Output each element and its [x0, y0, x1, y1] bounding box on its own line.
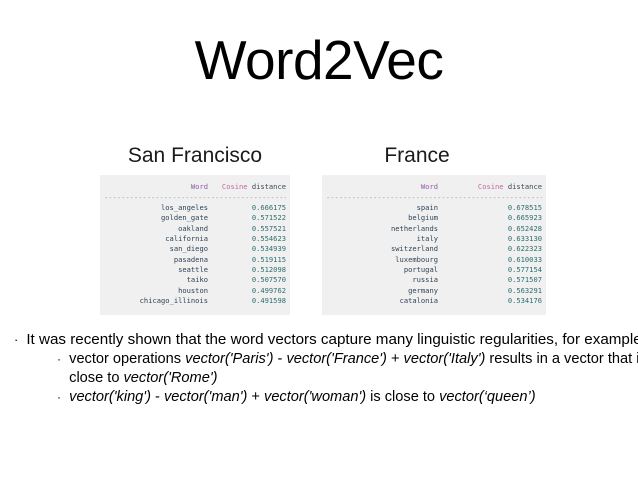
table-row: seattle 0.512098	[104, 265, 286, 275]
cell-distance: 0.563291	[438, 286, 542, 296]
cell-distance: 0.610033	[438, 255, 542, 265]
column-header-word: Word	[104, 182, 208, 192]
cell-word: san_diego	[104, 244, 208, 254]
cell-word: luxembourg	[326, 255, 438, 265]
bullet-text: vector operations vector('Paris') - vect…	[69, 350, 638, 389]
cell-distance: 0.571522	[208, 213, 286, 223]
cell-word: catalonia	[326, 296, 438, 306]
table-body-sf: los_angeles 0.666175 golden_gate 0.57152…	[104, 203, 286, 306]
cell-word: los_angeles	[104, 203, 208, 213]
bullet-marker-icon: ·	[57, 388, 61, 407]
cell-word: russia	[326, 275, 438, 285]
table-row: germany 0.563291	[326, 286, 542, 296]
table-body-france: spain 0.678515 belgium 0.665923 netherla…	[326, 203, 542, 306]
cell-word: portugal	[326, 265, 438, 275]
similarity-table-san-francisco: Word Cosine distance -------------------…	[100, 175, 290, 315]
cell-word: netherlands	[326, 224, 438, 234]
table-row: russia 0.571507	[326, 275, 542, 285]
cell-distance: 0.678515	[438, 203, 542, 213]
column-header-cosine-distance: Cosine distance	[438, 182, 542, 192]
bullet-item: · vector('king') - vector('man') + vecto…	[57, 388, 638, 407]
table-row: portugal 0.577154	[326, 265, 542, 275]
table-row: houston 0.499762	[104, 286, 286, 296]
cell-distance: 0.491598	[208, 296, 286, 306]
cell-distance: 0.665923	[438, 213, 542, 223]
page-title: Word2Vec	[0, 33, 638, 88]
column-header-cosine: Cosine	[478, 182, 508, 191]
table-header-row: Word Cosine distance	[326, 182, 542, 192]
cell-distance: 0.534939	[208, 244, 286, 254]
cell-word: pasadena	[104, 255, 208, 265]
table-row: spain 0.678515	[326, 203, 542, 213]
bullet-item: · It was recently shown that the word ve…	[14, 330, 638, 350]
similarity-table-france: Word Cosine distance -------------------…	[322, 175, 546, 315]
cell-word: chicago_illinois	[104, 296, 208, 306]
table-row: catalonia 0.534176	[326, 296, 542, 306]
cell-distance: 0.633130	[438, 234, 542, 244]
cell-distance: 0.534176	[438, 296, 542, 306]
slide: Word2Vec San Francisco Word Cosine dista…	[0, 0, 638, 479]
column-header-cosine: Cosine	[222, 182, 252, 191]
table-row: pasadena 0.519115	[104, 255, 286, 265]
table-header-row: Word Cosine distance	[104, 182, 286, 192]
cell-word: seattle	[104, 265, 208, 275]
table-row: italy 0.633130	[326, 234, 542, 244]
cell-word: taiko	[104, 275, 208, 285]
column-header-word: Word	[326, 182, 438, 192]
cell-distance: 0.571507	[438, 275, 542, 285]
table-row: los_angeles 0.666175	[104, 203, 286, 213]
slide-body: · It was recently shown that the word ve…	[14, 330, 638, 408]
table-row: california 0.554623	[104, 234, 286, 244]
table-row: switzerland 0.622323	[326, 244, 542, 254]
cell-distance: 0.519115	[208, 255, 286, 265]
column-header-distance: distance	[252, 182, 286, 191]
cell-distance: 0.507570	[208, 275, 286, 285]
table-separator: ----------------------------------------…	[326, 193, 542, 203]
cell-distance: 0.652428	[438, 224, 542, 234]
cell-word: houston	[104, 286, 208, 296]
table-row: taiko 0.507570	[104, 275, 286, 285]
table-row: chicago_illinois 0.491598	[104, 296, 286, 306]
bullet-marker-icon: ·	[57, 350, 61, 369]
cell-distance: 0.554623	[208, 234, 286, 244]
cell-word: italy	[326, 234, 438, 244]
cell-word: spain	[326, 203, 438, 213]
table-row: netherlands 0.652428	[326, 224, 542, 234]
cell-word: switzerland	[326, 244, 438, 254]
table-separator: ----------------------------------------…	[104, 193, 286, 203]
cell-word: oakland	[104, 224, 208, 234]
bullet-text: vector('king') - vector('man') + vector(…	[69, 388, 638, 407]
bullet-marker-icon: ·	[14, 330, 18, 350]
cell-word: germany	[326, 286, 438, 296]
table-row: golden_gate 0.571522	[104, 213, 286, 223]
cell-distance: 0.577154	[438, 265, 542, 275]
column-header-cosine-distance: Cosine distance	[208, 182, 286, 192]
table-row: san_diego 0.534939	[104, 244, 286, 254]
table-row: belgium 0.665923	[326, 213, 542, 223]
example-heading: San Francisco	[100, 143, 290, 169]
cell-distance: 0.622323	[438, 244, 542, 254]
column-header-distance: distance	[508, 182, 542, 191]
cell-distance: 0.557521	[208, 224, 286, 234]
cell-distance: 0.512098	[208, 265, 286, 275]
table-row: luxembourg 0.610033	[326, 255, 542, 265]
cell-word: belgium	[326, 213, 438, 223]
example-heading: France	[322, 143, 546, 169]
cell-distance: 0.499762	[208, 286, 286, 296]
table-row: oakland 0.557521	[104, 224, 286, 234]
cell-word: california	[104, 234, 208, 244]
example-san-francisco: San Francisco Word Cosine distance -----…	[100, 143, 290, 315]
bullet-item: · vector operations vector('Paris') - ve…	[57, 350, 638, 389]
cell-word: golden_gate	[104, 213, 208, 223]
cell-distance: 0.666175	[208, 203, 286, 213]
example-france: France Word Cosine distance ------------…	[322, 143, 546, 315]
bullet-text: It was recently shown that the word vect…	[26, 330, 638, 350]
